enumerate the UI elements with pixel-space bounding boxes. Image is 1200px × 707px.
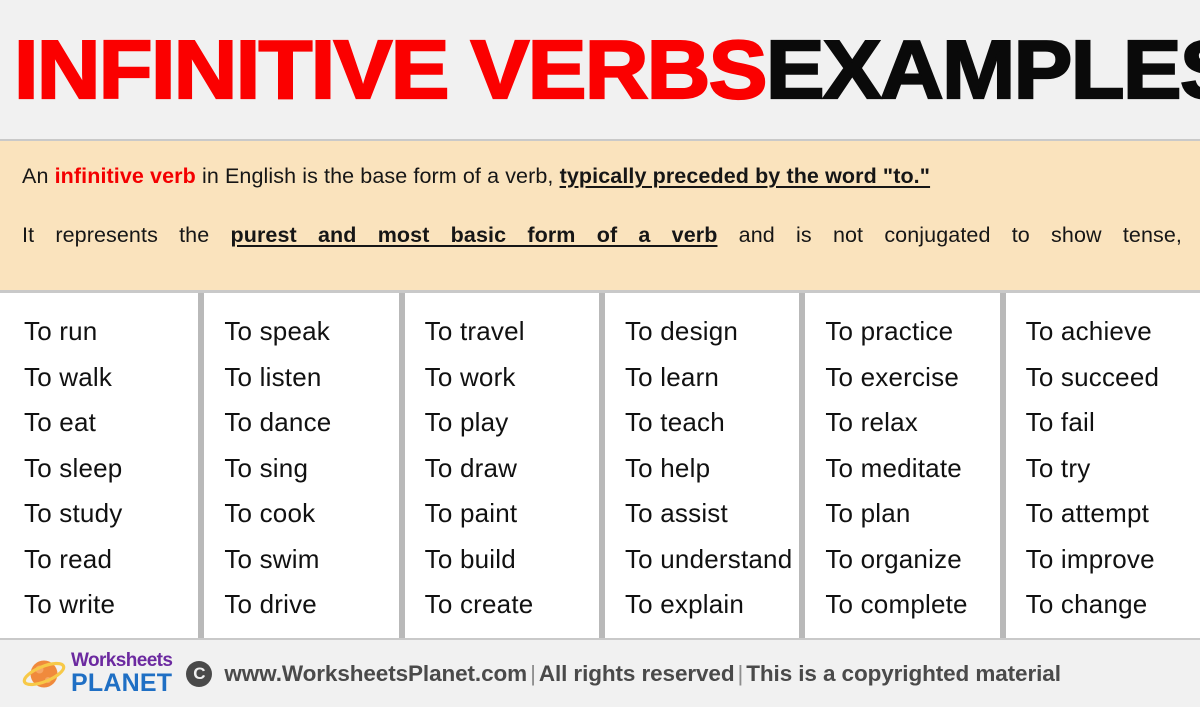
verb-item: To change bbox=[1026, 582, 1194, 628]
verb-item: To learn bbox=[625, 355, 793, 401]
verb-columns-container: To run To walk To eat To sleep To study … bbox=[0, 293, 1200, 638]
verb-item: To teach bbox=[625, 400, 793, 446]
verb-item: To complete bbox=[825, 582, 993, 628]
description-line-2: It represents the purest and most basic … bbox=[22, 222, 1186, 249]
page-title: INFINITIVE VERBSEXAMPLES bbox=[14, 31, 1200, 110]
verb-item: To attempt bbox=[1026, 491, 1194, 537]
planet-icon bbox=[22, 653, 68, 695]
verb-item: To relax bbox=[825, 400, 993, 446]
verb-item: To write bbox=[24, 582, 192, 628]
verb-item: To try bbox=[1026, 446, 1194, 492]
desc2-underlined-phrase: purest and most basic form of a verb bbox=[231, 223, 718, 247]
verb-item: To travel bbox=[425, 309, 593, 355]
verb-item: To design bbox=[625, 309, 793, 355]
verb-item: To paint bbox=[425, 491, 593, 537]
logo-wordmark: Worksheets PLANET bbox=[71, 651, 172, 696]
verb-item: To help bbox=[625, 446, 793, 492]
verb-item: To assist bbox=[625, 491, 793, 537]
verb-item: To achieve bbox=[1026, 309, 1194, 355]
verb-item: To understand bbox=[625, 537, 793, 583]
copyright-icon: C bbox=[186, 661, 212, 687]
verb-item: To fail bbox=[1026, 400, 1194, 446]
verb-item: To eat bbox=[24, 400, 192, 446]
verb-item: To succeed bbox=[1026, 355, 1194, 401]
page-title-black-part: EXAMPLES bbox=[766, 23, 1200, 116]
verb-item: To build bbox=[425, 537, 593, 583]
desc2-after: and is not conjugated to show tense, bbox=[717, 223, 1182, 247]
verb-item: To drive bbox=[224, 582, 392, 628]
verb-item: To meditate bbox=[825, 446, 993, 492]
verb-item: To work bbox=[425, 355, 593, 401]
desc1-underlined-phrase: typically preceded by the word "to." bbox=[560, 164, 930, 188]
worksheet-page: INFINITIVE VERBSEXAMPLES An infinitive v… bbox=[0, 0, 1200, 707]
desc2-before: It represents the bbox=[22, 223, 231, 247]
logo-top-text: Worksheets bbox=[71, 651, 172, 670]
page-title-red-part: INFINITIVE VERBS bbox=[14, 23, 766, 116]
verb-item: To sing bbox=[224, 446, 392, 492]
verb-item: To create bbox=[425, 582, 593, 628]
verb-item: To practice bbox=[825, 309, 993, 355]
verb-item: To dance bbox=[224, 400, 392, 446]
description-panel: An infinitive verb in English is the bas… bbox=[0, 141, 1200, 293]
desc1-red-term: infinitive verb bbox=[55, 164, 196, 188]
verb-item: To explain bbox=[625, 582, 793, 628]
page-footer: Worksheets PLANET C www.WorksheetsPlanet… bbox=[0, 638, 1200, 707]
verb-item: To sleep bbox=[24, 446, 192, 492]
verb-item: To walk bbox=[24, 355, 192, 401]
verb-column-4: To design To learn To teach To help To a… bbox=[605, 293, 799, 638]
verb-column-2: To speak To listen To dance To sing To c… bbox=[204, 293, 398, 638]
footer-rights: All rights reserved bbox=[539, 661, 735, 686]
footer-copyright-note: This is a copyrighted material bbox=[746, 661, 1061, 686]
verb-column-3: To travel To work To play To draw To pai… bbox=[405, 293, 599, 638]
verb-item: To listen bbox=[224, 355, 392, 401]
verb-item: To swim bbox=[224, 537, 392, 583]
desc1-middle: in English is the base form of a verb, bbox=[196, 164, 560, 188]
verb-column-6: To achieve To succeed To fail To try To … bbox=[1006, 293, 1200, 638]
footer-credit-text: www.WorksheetsPlanet.com|All rights rese… bbox=[224, 661, 1060, 687]
verb-item: To cook bbox=[224, 491, 392, 537]
verb-item: To study bbox=[24, 491, 192, 537]
verb-item: To speak bbox=[224, 309, 392, 355]
footer-website[interactable]: www.WorksheetsPlanet.com bbox=[224, 661, 527, 686]
verb-item: To draw bbox=[425, 446, 593, 492]
verb-column-5: To practice To exercise To relax To medi… bbox=[805, 293, 999, 638]
verb-item: To run bbox=[24, 309, 192, 355]
verb-item: To read bbox=[24, 537, 192, 583]
verb-item: To plan bbox=[825, 491, 993, 537]
verb-column-1: To run To walk To eat To sleep To study … bbox=[0, 293, 198, 638]
page-header: INFINITIVE VERBSEXAMPLES bbox=[0, 0, 1200, 141]
verb-item: To improve bbox=[1026, 537, 1194, 583]
footer-separator-1: | bbox=[527, 661, 539, 686]
logo-bottom-text: PLANET bbox=[71, 671, 172, 696]
description-line-1: An infinitive verb in English is the bas… bbox=[22, 163, 1186, 190]
verb-item: To organize bbox=[825, 537, 993, 583]
desc1-before: An bbox=[22, 164, 55, 188]
worksheets-planet-logo[interactable]: Worksheets PLANET bbox=[22, 651, 172, 696]
footer-separator-2: | bbox=[735, 661, 747, 686]
verb-item: To exercise bbox=[825, 355, 993, 401]
verb-item: To play bbox=[425, 400, 593, 446]
